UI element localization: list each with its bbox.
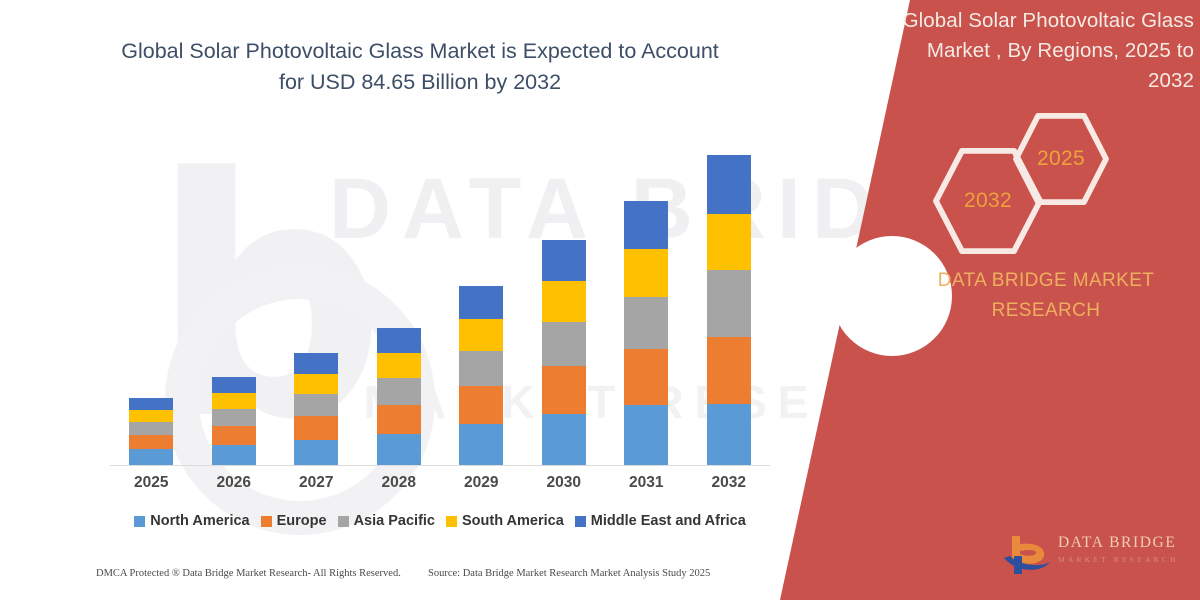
bar-segment[interactable] [624, 201, 668, 249]
legend-item[interactable]: Middle East and Africa [575, 513, 746, 529]
bar-segment[interactable] [129, 435, 173, 449]
bar-segment[interactable] [459, 386, 503, 424]
bar-segment[interactable] [624, 405, 668, 465]
bar-segment[interactable] [212, 445, 256, 465]
bar-segment[interactable] [377, 405, 421, 434]
x-axis-label: 2030 [523, 474, 606, 492]
bar-segment[interactable] [294, 416, 338, 440]
bar-segment[interactable] [707, 404, 751, 465]
bar-segment[interactable] [294, 440, 338, 465]
stacked-bar[interactable] [707, 155, 751, 465]
bar-slot [275, 140, 358, 465]
legend-label: Asia Pacific [354, 513, 435, 529]
bar-slot [358, 140, 441, 465]
brand-wordmark: DATA BRIDGE MARKET RESEARCH [902, 266, 1190, 326]
legend-label: Europe [277, 513, 327, 529]
legend-item[interactable]: Europe [261, 513, 327, 529]
stacked-bar[interactable] [212, 377, 256, 465]
hexagon-end-year: 2032 [933, 148, 1043, 254]
bar-segment[interactable] [294, 353, 338, 374]
stacked-bar[interactable] [129, 398, 173, 465]
legend-swatch-icon [575, 516, 586, 527]
x-axis-label: 2026 [193, 474, 276, 492]
bar-segment[interactable] [542, 240, 586, 281]
dbmr-logo-line1: DATA BRIDGE [1058, 534, 1190, 552]
legend-swatch-icon [446, 516, 457, 527]
panel-title: Global Solar Photovoltaic Glass Market ,… [884, 6, 1194, 96]
x-axis-label: 2029 [440, 474, 523, 492]
stacked-bar[interactable] [624, 201, 668, 465]
bar-segment[interactable] [212, 409, 256, 426]
stacked-bar[interactable] [294, 353, 338, 465]
bar-slot [440, 140, 523, 465]
bar-segment[interactable] [707, 214, 751, 270]
dbmr-logo-line2: MARKET RESEARCH [1058, 555, 1190, 564]
bar-segment[interactable] [377, 378, 421, 405]
chart-plot-area [110, 140, 770, 466]
brand-line-1: DATA BRIDGE MARKET [902, 266, 1190, 296]
bar-slot [193, 140, 276, 465]
chart-legend: North AmericaEuropeAsia PacificSouth Ame… [110, 513, 770, 529]
legend-label: South America [462, 513, 564, 529]
bar-segment[interactable] [624, 249, 668, 297]
bar-segment[interactable] [129, 422, 173, 435]
bar-segment[interactable] [542, 366, 586, 414]
x-axis-label: 2027 [275, 474, 358, 492]
bar-slot [523, 140, 606, 465]
legend-swatch-icon [338, 516, 349, 527]
x-axis-label: 2028 [358, 474, 441, 492]
legend-swatch-icon [134, 516, 145, 527]
bar-segment[interactable] [129, 410, 173, 422]
hexagon-group: 2025 2032 [920, 110, 1120, 240]
bar-segment[interactable] [129, 449, 173, 465]
bar-segment[interactable] [542, 281, 586, 322]
legend-swatch-icon [261, 516, 272, 527]
bar-segment[interactable] [542, 322, 586, 366]
hexagon-end-label: 2032 [933, 148, 1043, 254]
bar-segment[interactable] [212, 393, 256, 409]
bar-segment[interactable] [294, 394, 338, 416]
bar-segment[interactable] [212, 426, 256, 445]
bar-segment[interactable] [294, 374, 338, 394]
bar-slot [688, 140, 771, 465]
stacked-bar[interactable] [377, 328, 421, 465]
bar-segment[interactable] [377, 353, 421, 378]
page-title: Global Solar Photovoltaic Glass Market i… [110, 36, 730, 98]
bar-segment[interactable] [624, 349, 668, 405]
stacked-bar[interactable] [542, 240, 586, 465]
brand-line-2: RESEARCH [902, 296, 1190, 326]
bar-segment[interactable] [459, 351, 503, 386]
legend-label: Middle East and Africa [591, 513, 746, 529]
bar-segment[interactable] [707, 155, 751, 214]
bar-segment[interactable] [212, 377, 256, 393]
x-axis-label: 2025 [110, 474, 193, 492]
stacked-bar[interactable] [459, 286, 503, 465]
stacked-bar-group [110, 140, 770, 465]
x-axis-tick-labels: 20252026202720282029203020312032 [110, 474, 770, 492]
bar-segment[interactable] [377, 434, 421, 465]
bar-segment[interactable] [459, 424, 503, 465]
x-axis-label: 2031 [605, 474, 688, 492]
x-axis-line [110, 465, 770, 466]
footer-copyright: DMCA Protected ® Data Bridge Market Rese… [96, 568, 401, 579]
dbmr-logo-mark-icon [1000, 532, 1052, 578]
bar-slot [110, 140, 193, 465]
infographic-canvas: b DATA BRIDGE MARKET RESEARCH Global Sol… [0, 0, 1200, 600]
bar-segment[interactable] [459, 286, 503, 319]
bar-segment[interactable] [707, 270, 751, 337]
bar-segment[interactable] [129, 398, 173, 410]
legend-label: North America [150, 513, 249, 529]
dbmr-logo: DATA BRIDGE MARKET RESEARCH [1000, 530, 1190, 582]
bar-segment[interactable] [542, 414, 586, 465]
bar-segment[interactable] [624, 297, 668, 349]
legend-item[interactable]: Asia Pacific [338, 513, 435, 529]
footer-source: Source: Data Bridge Market Research Mark… [428, 568, 710, 579]
dbmr-logo-text: DATA BRIDGE MARKET RESEARCH [1058, 534, 1190, 564]
bar-slot [605, 140, 688, 465]
bar-segment[interactable] [377, 328, 421, 353]
x-axis-label: 2032 [688, 474, 771, 492]
legend-item[interactable]: South America [446, 513, 564, 529]
bar-segment[interactable] [707, 337, 751, 404]
bar-segment[interactable] [459, 319, 503, 351]
legend-item[interactable]: North America [134, 513, 249, 529]
